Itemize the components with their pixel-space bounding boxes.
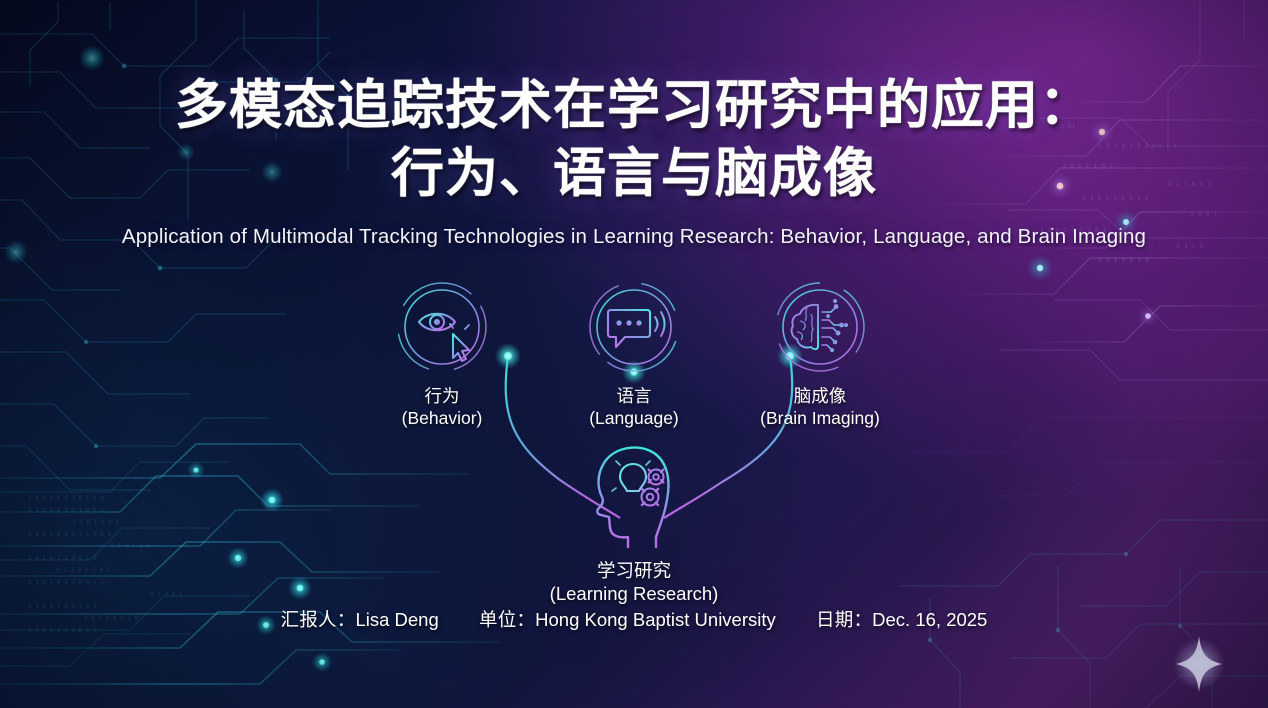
head-lightbulb-gears-icon [576, 439, 692, 551]
language-ring-wrap [587, 280, 681, 374]
concept-diagram: 行为 (Behavior) [0, 276, 1268, 606]
page-title: 多模态追踪技术在学习研究中的应用： 行为、语言与脑成像 [0, 72, 1268, 208]
svg-text:0 0 1 0 1 1 0: 0 0 1 0 1 1 0 [1098, 256, 1149, 264]
presenter-field: 汇报人：Lisa Deng [281, 606, 439, 632]
brain-circuit-icon [773, 280, 867, 374]
language-label-cn: 语言 [617, 386, 652, 406]
behavior-ring-wrap [395, 280, 489, 374]
four-point-star-icon [1172, 634, 1226, 694]
affiliation-value: Hong Kong Baptist University [535, 609, 776, 630]
brain-imaging-label: 脑成像 (Brain Imaging) [705, 385, 935, 429]
center-label-en: (Learning Research) [474, 582, 794, 605]
title-line-2: 行为、语言与脑成像 [0, 140, 1268, 208]
presentation-slide: 1 0 1 1 0 0 1 0 1 1 0 0 1 0 0 1 1 0 1 0 … [0, 0, 1268, 708]
affiliation-field: 单位：Hong Kong Baptist University [479, 606, 776, 632]
date-field: 日期：Dec. 16, 2025 [816, 606, 987, 632]
diagram-node-learning-research[interactable]: 学习研究 (Learning Research) [474, 439, 794, 606]
eye-cursor-icon [395, 280, 489, 374]
brain-label-cn: 脑成像 [794, 386, 847, 406]
learning-head-wrap [576, 439, 692, 551]
affiliation-label: 单位： [479, 609, 535, 630]
learning-research-label: 学习研究 (Learning Research) [474, 559, 794, 606]
date-value: Dec. 16, 2025 [872, 609, 987, 630]
title-block: 多模态追踪技术在学习研究中的应用： 行为、语言与脑成像 Application … [0, 72, 1268, 249]
presenter-label: 汇报人： [281, 609, 356, 630]
slide-footer: 汇报人：Lisa Deng 单位：Hong Kong Baptist Unive… [0, 606, 1268, 632]
center-label-cn: 学习研究 [597, 560, 671, 581]
behavior-label-cn: 行为 [425, 386, 460, 406]
brain-ring-wrap [773, 280, 867, 374]
date-label: 日期： [816, 609, 872, 630]
speech-bubble-waves-icon [587, 280, 681, 374]
diagram-node-brain-imaging[interactable]: 脑成像 (Brain Imaging) [705, 280, 935, 429]
page-subtitle: Application of Multimodal Tracking Techn… [0, 225, 1268, 249]
title-line-1: 多模态追踪技术在学习研究中的应用： [175, 76, 1093, 135]
brain-label-en: (Brain Imaging) [705, 407, 935, 429]
presenter-value: Lisa Deng [355, 609, 438, 630]
